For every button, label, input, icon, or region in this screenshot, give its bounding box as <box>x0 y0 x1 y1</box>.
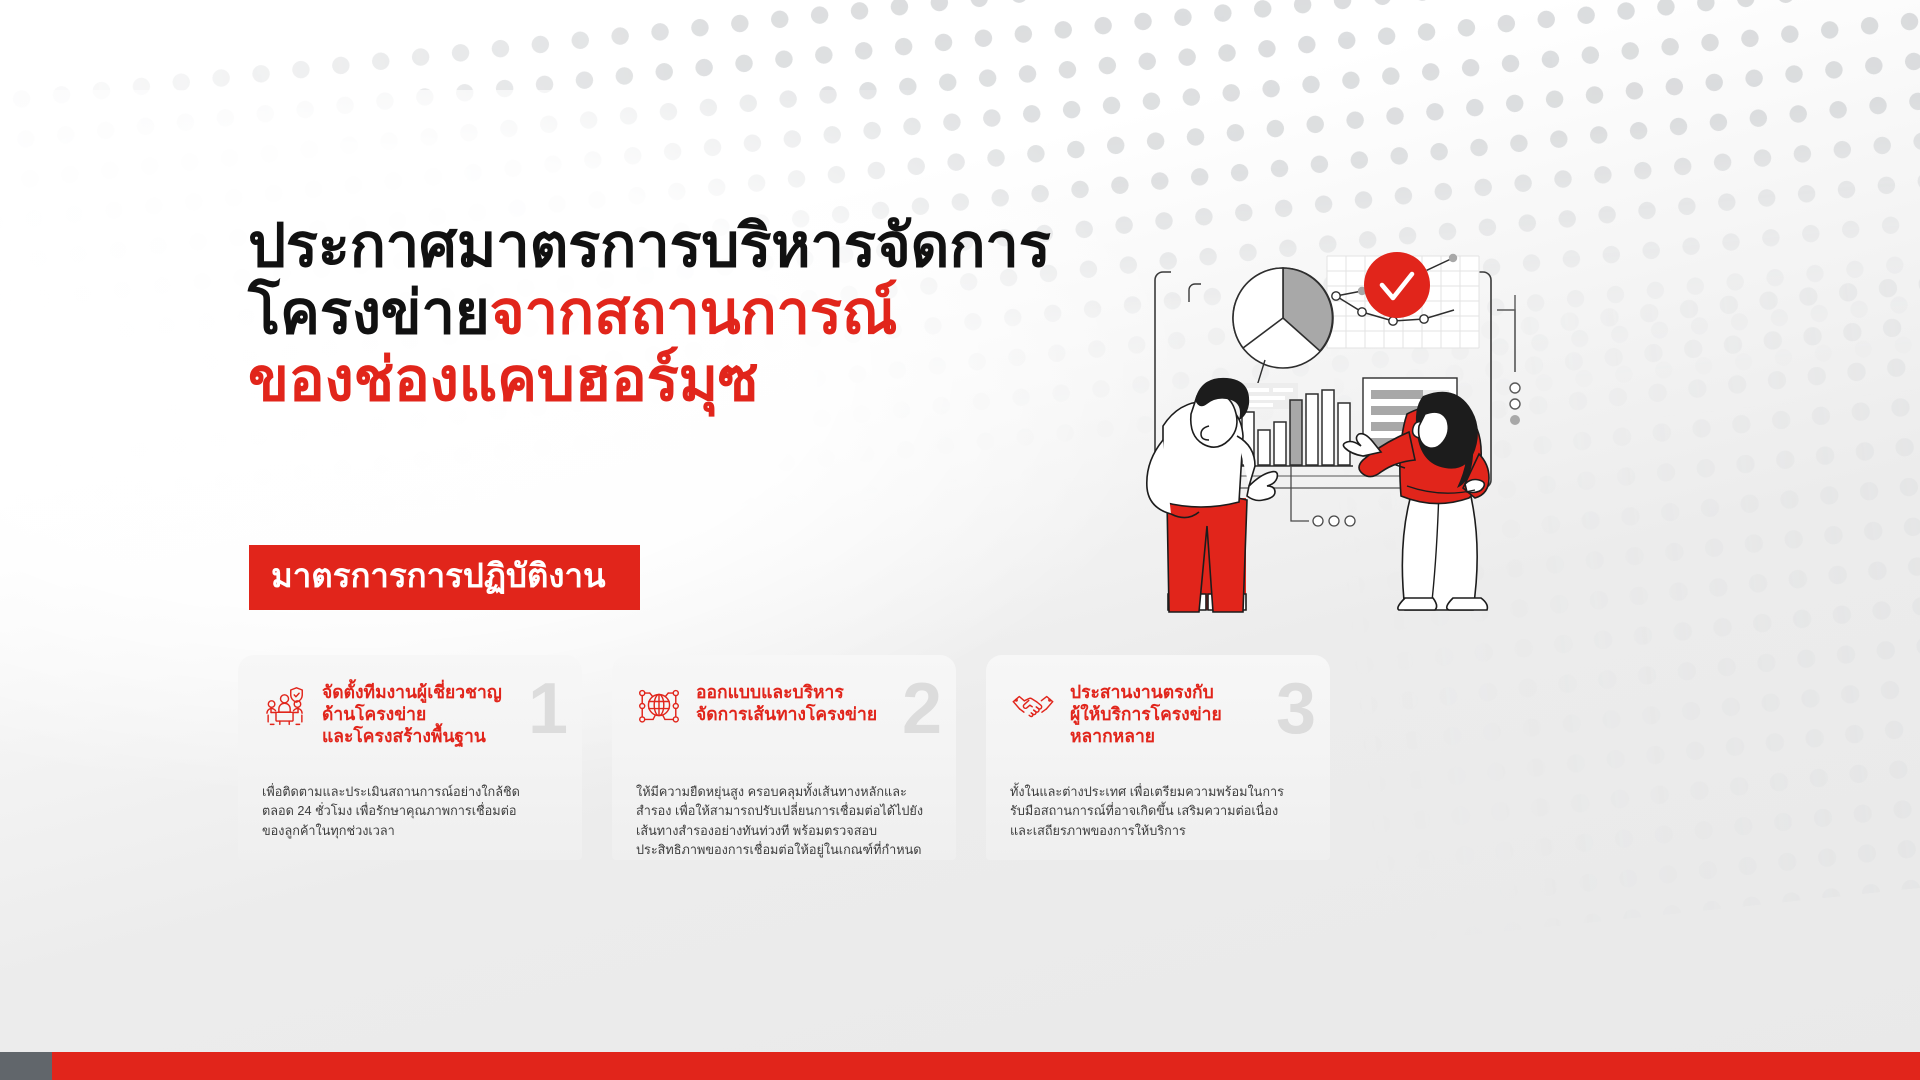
dots-connector <box>1291 466 1355 526</box>
red-check-badge <box>1364 252 1430 318</box>
status-badge-label: มาตรการการปฏิบัติงาน <box>271 557 606 594</box>
card-number: 3 <box>1276 673 1316 745</box>
pie-chart <box>1233 268 1333 386</box>
status-badge: มาตรการการปฏิบัติงาน <box>249 545 640 610</box>
headline-line-1: ประกาศมาตรการบริหารจัดการ <box>248 212 1078 279</box>
card-number: 2 <box>902 673 942 745</box>
card-title: จัดตั้งทีมงานผู้เชี่ยวชาญ ด้านโครงข่าย แ… <box>322 681 502 747</box>
card-description: ให้มีความยืดหยุ่นสูง ครอบคลุมทั้งเส้นทาง… <box>636 783 938 860</box>
headline-line-2: โครงข่ายจากสถานการณ์ <box>248 279 1078 346</box>
measure-card-1[interactable]: 1 จัดตั้งทีมงานผู้เชี่ยวชาญ ด้านโครงข่าย… <box>238 655 582 860</box>
card-number: 1 <box>528 673 568 745</box>
globe-network-icon <box>636 683 682 729</box>
bottom-bar-red-segment <box>52 1052 1920 1080</box>
data-analytics-team-illustration <box>1105 200 1585 620</box>
measure-card-2[interactable]: 2 ออกแบบและบริหาร จัดการเส้นทางโครงข่าย <box>612 655 956 860</box>
page-title: ประกาศมาตรการบริหารจัดการ โครงข่ายจากสถา… <box>248 212 1078 414</box>
measure-card-3[interactable]: 3 ประสานงานตรงกับ ผู้ให้บริการโครงข่าย ห… <box>986 655 1330 860</box>
headline-line-2-black: โครงข่าย <box>248 279 490 346</box>
card-header: ประสานงานตรงกับ ผู้ให้บริการโครงข่าย หลา… <box>1010 681 1272 747</box>
bottom-accent-bar <box>0 1052 1920 1080</box>
card-title: ประสานงานตรงกับ ผู้ให้บริการโครงข่าย หลา… <box>1070 681 1222 747</box>
headline-line-3: ของช่องแคบฮอร์มุซ <box>248 346 1078 413</box>
card-title: ออกแบบและบริหาร จัดการเส้นทางโครงข่าย <box>696 681 877 725</box>
card-description: ทั้งในและต่างประเทศ เพื่อเตรียมความพร้อม… <box>1010 783 1312 841</box>
card-header: ออกแบบและบริหาร จัดการเส้นทางโครงข่าย <box>636 681 898 729</box>
bottom-bar-gray-segment <box>0 1052 52 1080</box>
headline-line-2-red: จากสถานการณ์ <box>490 279 897 346</box>
team-meeting-shield-icon <box>262 683 308 729</box>
card-header: จัดตั้งทีมงานผู้เชี่ยวชาญ ด้านโครงข่าย แ… <box>262 681 524 747</box>
handshake-icon <box>1010 683 1056 729</box>
side-bracket <box>1497 295 1520 425</box>
person-left <box>1147 378 1278 612</box>
card-description: เพื่อติดตามและประเมินสถานการณ์อย่างใกล้ช… <box>262 783 564 841</box>
